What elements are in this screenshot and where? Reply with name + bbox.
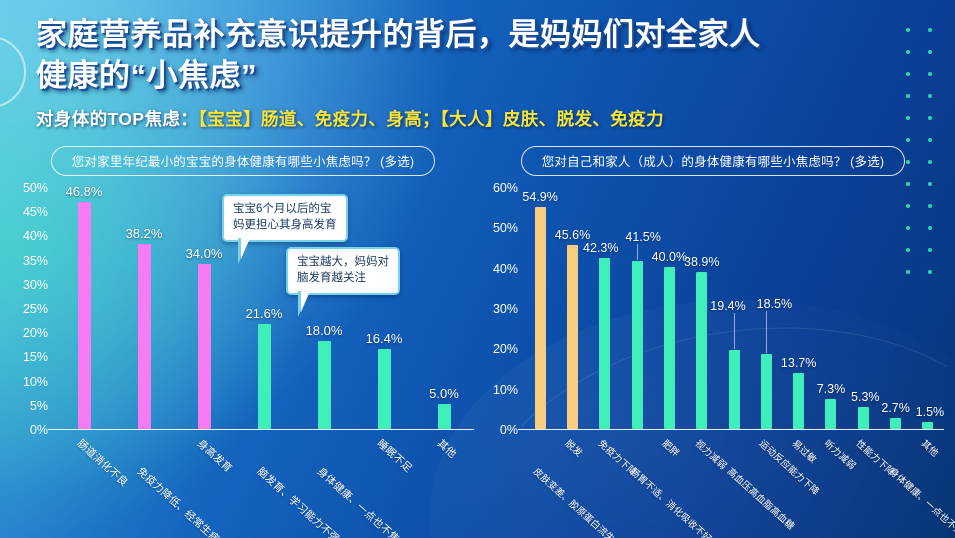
value-leader-line bbox=[637, 244, 638, 260]
x-tick-label: 睡眠不足 bbox=[374, 436, 416, 476]
x-label-slot: 听力减弱 bbox=[815, 430, 847, 538]
y-tick-label: 20% bbox=[493, 342, 518, 356]
y-tick-label: 15% bbox=[23, 350, 48, 364]
x-label-slot: 其他 bbox=[414, 430, 474, 538]
bar bbox=[761, 354, 772, 429]
bar-slot: 1.5% bbox=[912, 187, 944, 429]
bar-slot: 42.3% bbox=[589, 187, 621, 429]
page-title-line-1: 家庭营养品补充意识提升的背后，是妈妈们对全家人 bbox=[36, 14, 916, 55]
x-tick-label: 其他 bbox=[434, 436, 460, 461]
bar-slot: 54.9% bbox=[524, 187, 556, 429]
page-title: 家庭营养品补充意识提升的背后，是妈妈们对全家人 健康的“小焦虑” bbox=[36, 14, 916, 96]
decor-dot bbox=[928, 28, 932, 32]
bar bbox=[378, 349, 391, 428]
x-label-slot: 其他 bbox=[912, 430, 944, 538]
y-tick-label: 0% bbox=[30, 423, 48, 437]
bar bbox=[696, 272, 707, 429]
left-circle-decoration bbox=[0, 36, 26, 108]
bar-slot: 40.0% bbox=[653, 187, 685, 429]
page-subtitle: 对身体的TOP焦虑：【宝宝】肠道、免疫力、身高；【大人】皮肤、脱发、免疫力 bbox=[36, 106, 916, 131]
bar bbox=[78, 202, 91, 429]
bar-value-label: 2.7% bbox=[881, 401, 910, 415]
subtitle-highlight: 【宝宝】肠道、免疫力、身高；【大人】皮肤、脱发、免疫力 bbox=[198, 109, 664, 129]
x-label-slot: 皮肤变差、胶原蛋白流失 bbox=[524, 430, 556, 538]
page-title-line-2: 健康的“小焦虑” bbox=[36, 55, 916, 96]
slide-header: 家庭营养品补充意识提升的背后，是妈妈们对全家人 健康的“小焦虑” 对身体的TOP… bbox=[36, 14, 916, 131]
y-tick-label: 50% bbox=[493, 221, 518, 235]
y-tick-label: 45% bbox=[23, 205, 48, 219]
x-label-slot: 睡眠不足 bbox=[354, 430, 414, 538]
bar bbox=[858, 407, 869, 428]
y-tick-label: 0% bbox=[500, 423, 518, 437]
bar bbox=[825, 399, 836, 428]
bar bbox=[632, 261, 643, 428]
bar-value-label: 34.0% bbox=[186, 246, 223, 261]
decor-dot bbox=[928, 72, 932, 76]
decor-dot bbox=[928, 116, 932, 120]
x-label-slot: 身体健康、一点也不焦虑 bbox=[294, 430, 354, 538]
bar-slot: 7.3% bbox=[815, 187, 847, 429]
x-label-slot: 脱发 bbox=[556, 430, 588, 538]
x-label-slot: 脑发育、学习能力不强 bbox=[234, 430, 294, 538]
bar-slot: 46.8% bbox=[54, 187, 114, 429]
bar bbox=[567, 245, 578, 429]
bar-slot: 19.4% bbox=[718, 187, 750, 429]
bar bbox=[318, 341, 331, 428]
bar-value-label: 54.9% bbox=[522, 190, 557, 204]
bar-value-label: 45.6% bbox=[555, 228, 590, 242]
x-label-slot: 视力减弱 bbox=[686, 430, 718, 538]
x-axis-labels-adult: 皮肤变差、胶原蛋白流失脱发免疫力下降肠胃不适、消化吸收不好肥胖视力减弱高血压高血… bbox=[524, 430, 944, 538]
bar bbox=[138, 244, 151, 429]
chart-title-baby: 您对家里年纪最小的宝宝的身体健康有哪些小焦虑吗？ (多选) bbox=[51, 146, 436, 176]
callout-tail-inner bbox=[241, 238, 267, 259]
bar-slot: 41.5% bbox=[621, 187, 653, 429]
bar bbox=[729, 350, 740, 428]
bar-slot: 16.4% bbox=[354, 187, 414, 429]
bar-value-label: 42.3% bbox=[583, 241, 618, 255]
decor-dot bbox=[928, 50, 932, 54]
y-tick-label: 25% bbox=[23, 302, 48, 316]
bar-value-label: 38.2% bbox=[126, 226, 163, 241]
y-tick-label: 10% bbox=[23, 375, 48, 389]
bar-value-label: 46.8% bbox=[66, 184, 103, 199]
x-label-slot: 肠胃不适、消化吸收不好 bbox=[621, 430, 653, 538]
x-tick-label: 脱发 bbox=[563, 436, 587, 459]
x-label-slot: 身体健康、一点也不焦虑 bbox=[879, 430, 911, 538]
bar bbox=[664, 267, 675, 428]
bar-value-label: 40.0% bbox=[652, 250, 687, 264]
bar-slot: 5.0% bbox=[414, 187, 474, 429]
bar-value-label: 7.3% bbox=[817, 382, 846, 396]
y-tick-label: 30% bbox=[493, 302, 518, 316]
x-tick-label: 身高发育 bbox=[194, 436, 236, 476]
y-tick-label: 40% bbox=[23, 229, 48, 243]
y-tick-label: 40% bbox=[493, 262, 518, 276]
x-label-slot: 免疫力降低、经常生病 bbox=[114, 430, 174, 538]
bar-value-label: 1.5% bbox=[916, 405, 945, 419]
bar-value-label: 21.6% bbox=[246, 306, 283, 321]
y-tick-label: 60% bbox=[493, 181, 518, 195]
chart-panel-baby: 您对家里年纪最小的宝宝的身体健康有哪些小焦虑吗？ (多选) 50%45%40%3… bbox=[8, 146, 478, 430]
slide-canvas: 家庭营养品补充意识提升的背后，是妈妈们对全家人 健康的“小焦虑” 对身体的TOP… bbox=[0, 0, 955, 538]
callout-height-growth: 宝宝6个月以后的宝 妈更担心其身高发育 bbox=[222, 194, 348, 242]
y-tick-label: 5% bbox=[30, 399, 48, 413]
y-tick-label: 20% bbox=[23, 326, 48, 340]
bar-value-label: 19.4% bbox=[710, 299, 745, 313]
x-label-slot: 运动反应能力下降 bbox=[750, 430, 782, 538]
bar bbox=[198, 264, 211, 429]
bar-slot: 5.3% bbox=[847, 187, 879, 429]
callout-tail-inner bbox=[301, 291, 327, 312]
x-tick-label: 肥胖 bbox=[660, 436, 684, 459]
bar-group-adult: 54.9%45.6%42.3%41.5%40.0%38.9%19.4%18.5%… bbox=[524, 187, 944, 429]
decor-dot bbox=[928, 94, 932, 98]
bar bbox=[438, 404, 451, 428]
value-leader-line bbox=[734, 313, 735, 349]
bar bbox=[922, 422, 933, 428]
bar bbox=[258, 324, 271, 429]
chart-title-adult: 您对自己和家人（成人）的身体健康有哪些小焦虑吗？ (多选) bbox=[521, 146, 906, 176]
y-axis-baby: 50%45%40%35%30%25%20%15%10%5%0% bbox=[8, 188, 48, 430]
bar bbox=[793, 373, 804, 428]
bar-slot: 18.5% bbox=[750, 187, 782, 429]
bar-slot: 45.6% bbox=[556, 187, 588, 429]
x-label-slot: 身高发育 bbox=[174, 430, 234, 538]
decor-dot bbox=[928, 138, 932, 142]
x-label-slot: 免疫力下降 bbox=[589, 430, 621, 538]
bar-slot: 2.7% bbox=[879, 187, 911, 429]
decor-dot bbox=[906, 138, 910, 142]
x-label-slot: 性能力下降 bbox=[847, 430, 879, 538]
y-tick-label: 50% bbox=[23, 181, 48, 195]
chart-panel-adult: 您对自己和家人（成人）的身体健康有哪些小焦虑吗？ (多选) 60%50%40%3… bbox=[478, 146, 948, 430]
bar-value-label: 38.9% bbox=[684, 255, 719, 269]
x-label-slot: 肠道消化不良 bbox=[54, 430, 114, 538]
bar bbox=[535, 207, 546, 428]
x-tick-label: 其他 bbox=[919, 436, 943, 459]
bar-value-label: 16.4% bbox=[366, 331, 403, 346]
plot-area-adult: 60%50%40%30%20%10%0% 54.9%45.6%42.3%41.5… bbox=[478, 188, 948, 430]
y-tick-label: 35% bbox=[23, 254, 48, 268]
x-label-slot: 肥胖 bbox=[653, 430, 685, 538]
x-label-slot: 高血压高血脂高血糖 bbox=[718, 430, 750, 538]
x-label-slot: 易过敏 bbox=[783, 430, 815, 538]
bar bbox=[599, 258, 610, 429]
bar-value-label: 5.0% bbox=[429, 386, 459, 401]
bar-value-label: 18.0% bbox=[306, 323, 343, 338]
x-axis-labels-baby: 肠道消化不良免疫力降低、经常生病身高发育脑发育、学习能力不强身体健康、一点也不焦… bbox=[54, 430, 474, 538]
y-axis-adult: 60%50%40%30%20%10%0% bbox=[478, 188, 518, 430]
bar bbox=[890, 418, 901, 429]
callout-brain-development: 宝宝越大，妈妈对 脑发育越关注 bbox=[286, 247, 400, 295]
subtitle-plain: 对身体的TOP焦虑： bbox=[36, 109, 198, 129]
bar-value-label: 5.3% bbox=[851, 390, 880, 404]
bar-slot: 13.7% bbox=[783, 187, 815, 429]
bar-value-label: 13.7% bbox=[781, 356, 816, 370]
value-leader-line bbox=[766, 311, 767, 353]
y-tick-label: 30% bbox=[23, 278, 48, 292]
bar-slot: 38.2% bbox=[114, 187, 174, 429]
y-tick-label: 10% bbox=[493, 383, 518, 397]
